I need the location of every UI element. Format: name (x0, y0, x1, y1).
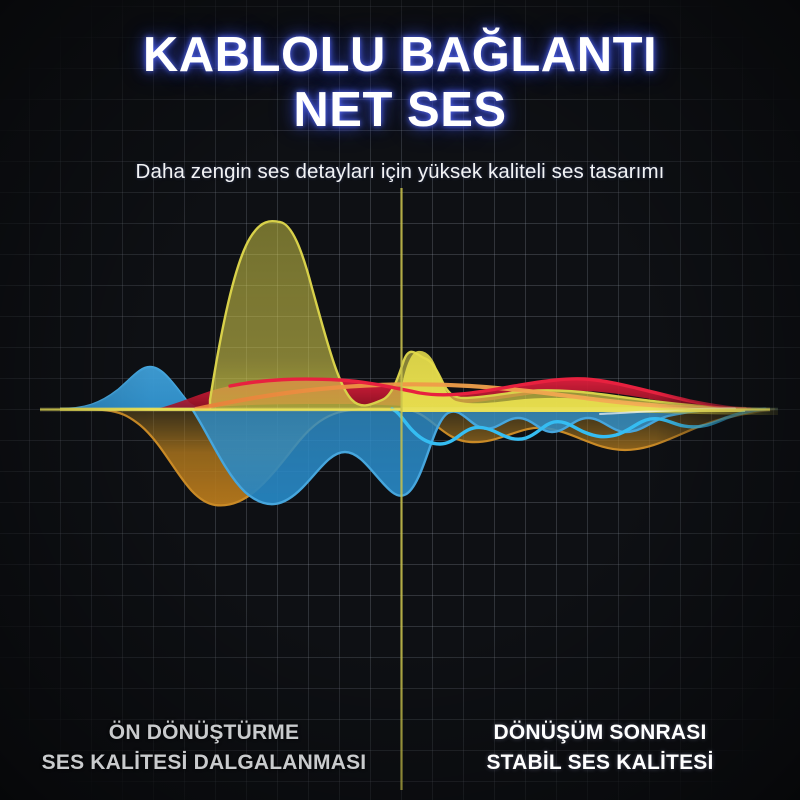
page-title: KABLOLU BAĞLANTI NET SES (0, 28, 800, 138)
footer-label-after: DÖNÜŞÜM SONRASI STABİL SES KALİTESİ (404, 718, 796, 778)
promo-banner: KABLOLU BAĞLANTI NET SES Daha zengin ses… (0, 0, 800, 800)
page-subtitle: Daha zengin ses detayları için yüksek ka… (0, 160, 800, 184)
footer-label-before: ÖN DÖNÜŞTÜRME SES KALİTESİ DALGALANMASI (8, 718, 400, 778)
